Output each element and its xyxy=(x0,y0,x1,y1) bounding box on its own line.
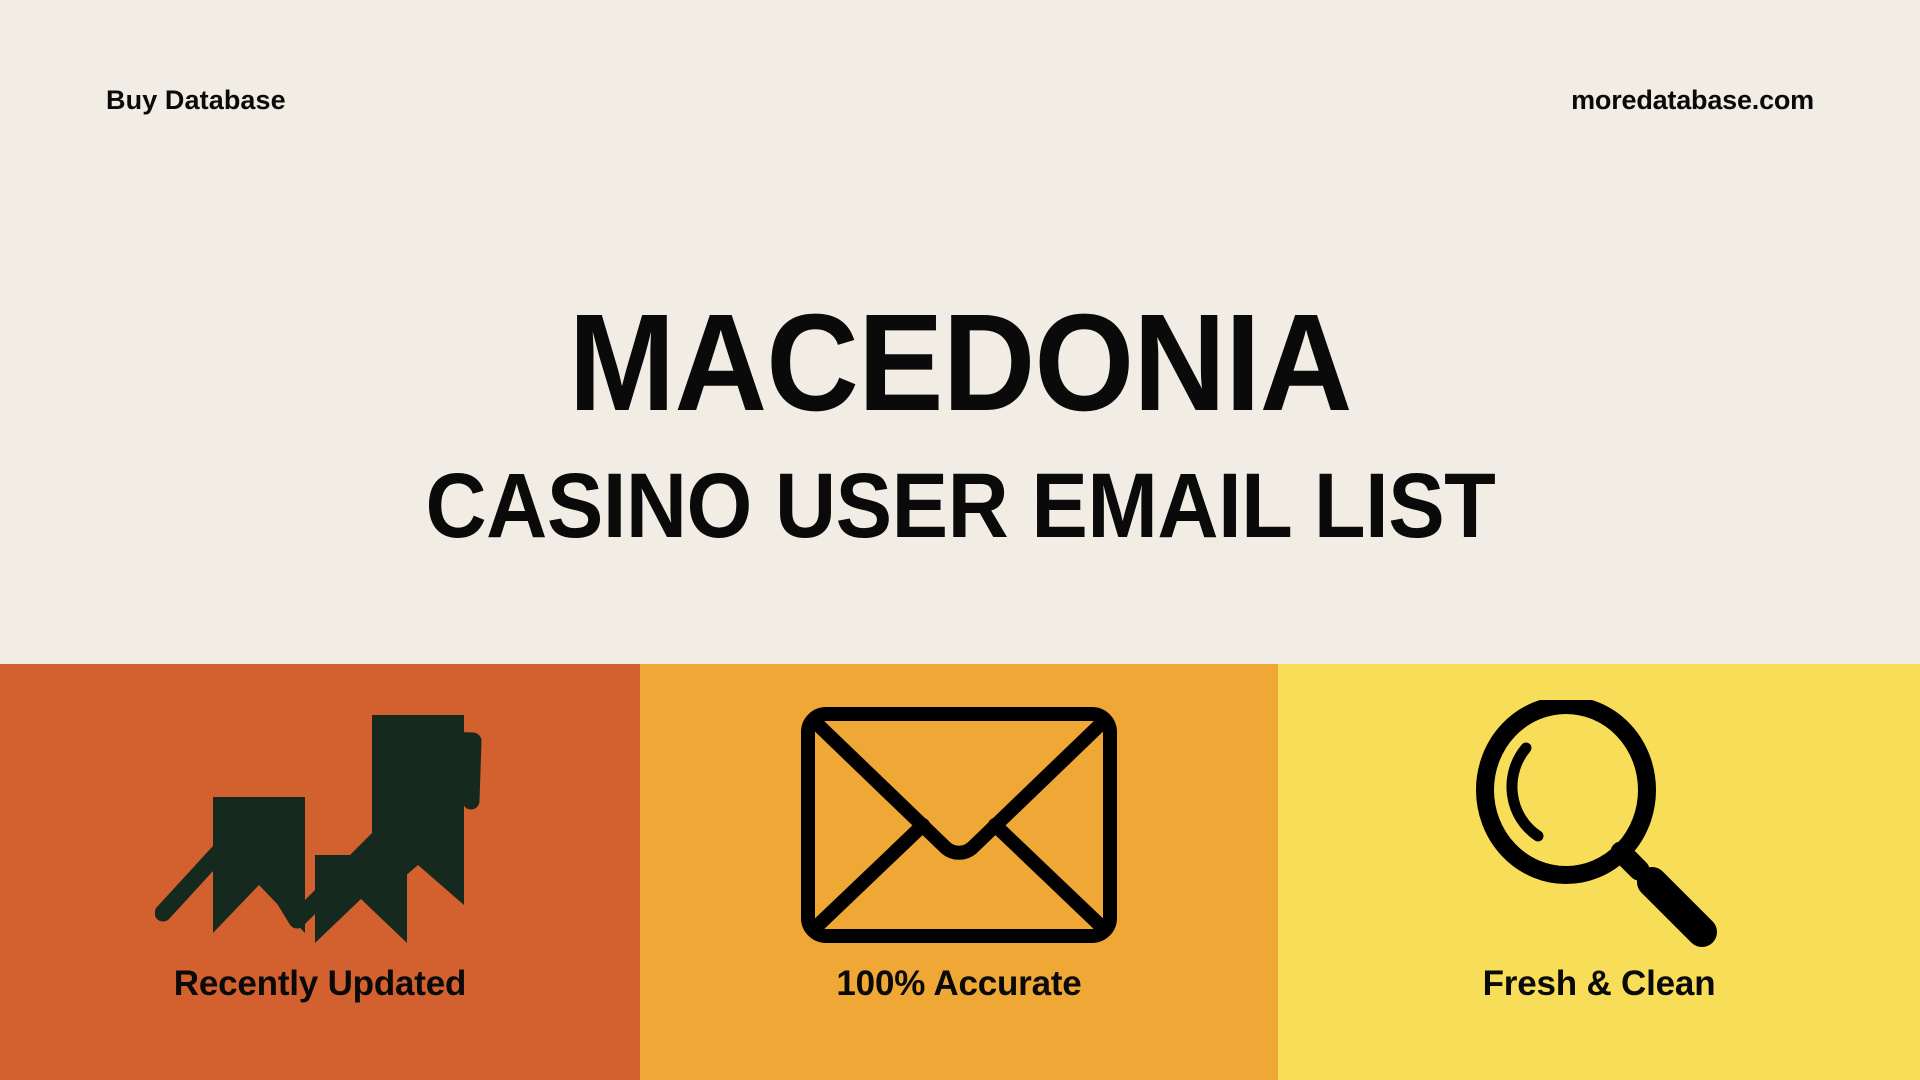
feature-panel-fresh-clean: Fresh & Clean xyxy=(1278,664,1920,1080)
feature-panel-accurate: 100% Accurate xyxy=(640,664,1278,1080)
page-subtitle: CASINO USER EMAIL LIST xyxy=(425,460,1495,552)
feature-label-accurate: 100% Accurate xyxy=(836,964,1081,1004)
envelope-icon xyxy=(799,700,1119,950)
page-title: MACEDONIA xyxy=(568,294,1351,432)
feature-label-recently-updated: Recently Updated xyxy=(174,964,466,1004)
poster-canvas: Buy Database moredatabase.com MACEDONIA … xyxy=(0,0,1920,1080)
hero-section: MACEDONIA CASINO USER EMAIL LIST xyxy=(0,200,1920,664)
feature-label-fresh-clean: Fresh & Clean xyxy=(1483,964,1716,1004)
poster-header: Buy Database moredatabase.com xyxy=(0,0,1920,200)
feature-panel-recently-updated: Recently Updated xyxy=(0,664,640,1080)
website-url-label: moredatabase.com xyxy=(1571,85,1814,116)
brand-left-label: Buy Database xyxy=(106,85,286,116)
growth-chart-icon xyxy=(155,700,485,950)
magnifying-glass-icon xyxy=(1469,700,1729,950)
feature-strip: Recently Updated 100% Accurate xyxy=(0,664,1920,1080)
